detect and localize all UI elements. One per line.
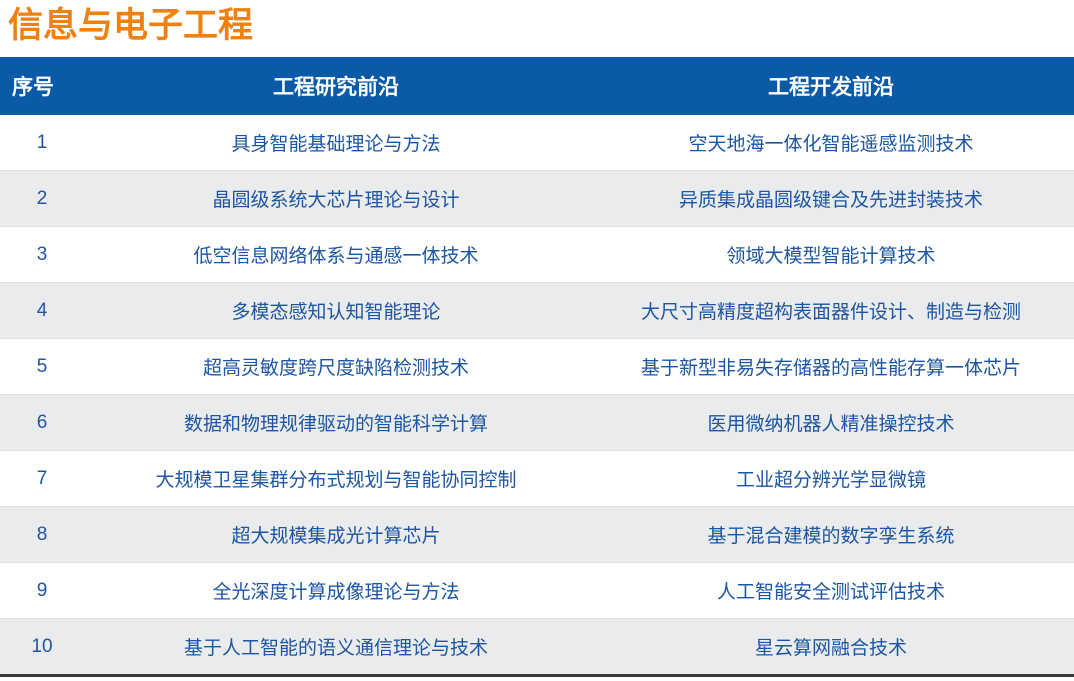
table-row: 6数据和物理规律驱动的智能科学计算医用微纳机器人精准操控技术 <box>0 395 1074 451</box>
table-row: 9全光深度计算成像理论与方法人工智能安全测试评估技术 <box>0 563 1074 619</box>
table-row: 1具身智能基础理论与方法空天地海一体化智能遥感监测技术 <box>0 115 1074 171</box>
cell-research-front: 具身智能基础理论与方法 <box>84 115 588 171</box>
cell-research-front: 超大规模集成光计算芯片 <box>84 507 588 563</box>
table-row: 5超高灵敏度跨尺度缺陷检测技术基于新型非易失存储器的高性能存算一体芯片 <box>0 339 1074 395</box>
page-root: 信息与电子工程 序号 工程研究前沿 工程开发前沿 1具身智能基础理论与方法空天地… <box>0 0 1074 681</box>
cell-development-front: 人工智能安全测试评估技术 <box>588 563 1074 619</box>
cell-index: 3 <box>0 227 84 283</box>
page-title: 信息与电子工程 <box>8 2 253 50</box>
cell-research-front: 大规模卫星集群分布式规划与智能协同控制 <box>84 451 588 507</box>
cell-index: 9 <box>0 563 84 619</box>
cell-index: 4 <box>0 283 84 339</box>
cell-index: 6 <box>0 395 84 451</box>
table-header: 序号 工程研究前沿 工程开发前沿 <box>0 57 1074 115</box>
cell-development-front: 大尺寸高精度超构表面器件设计、制造与检测 <box>588 283 1074 339</box>
table-row: 4多模态感知认知智能理论大尺寸高精度超构表面器件设计、制造与检测 <box>0 283 1074 339</box>
cell-research-front: 全光深度计算成像理论与方法 <box>84 563 588 619</box>
cell-development-front: 医用微纳机器人精准操控技术 <box>588 395 1074 451</box>
cell-research-front: 基于人工智能的语义通信理论与技术 <box>84 619 588 676</box>
cell-index: 7 <box>0 451 84 507</box>
engineering-fronts-table: 序号 工程研究前沿 工程开发前沿 1具身智能基础理论与方法空天地海一体化智能遥感… <box>0 57 1074 677</box>
cell-index: 8 <box>0 507 84 563</box>
cell-development-front: 工业超分辨光学显微镜 <box>588 451 1074 507</box>
cell-research-front: 低空信息网络体系与通感一体技术 <box>84 227 588 283</box>
cell-research-front: 晶圆级系统大芯片理论与设计 <box>84 171 588 227</box>
cell-development-front: 空天地海一体化智能遥感监测技术 <box>588 115 1074 171</box>
cell-development-front: 领域大模型智能计算技术 <box>588 227 1074 283</box>
column-header-index: 序号 <box>0 57 84 115</box>
cell-development-front: 星云算网融合技术 <box>588 619 1074 676</box>
column-header-development-front: 工程开发前沿 <box>588 57 1074 115</box>
cell-index: 5 <box>0 339 84 395</box>
cell-research-front: 数据和物理规律驱动的智能科学计算 <box>84 395 588 451</box>
table-header-row: 序号 工程研究前沿 工程开发前沿 <box>0 57 1074 115</box>
table-row: 7大规模卫星集群分布式规划与智能协同控制工业超分辨光学显微镜 <box>0 451 1074 507</box>
cell-development-front: 基于混合建模的数字孪生系统 <box>588 507 1074 563</box>
table-row: 8超大规模集成光计算芯片基于混合建模的数字孪生系统 <box>0 507 1074 563</box>
cell-development-front: 异质集成晶圆级键合及先进封装技术 <box>588 171 1074 227</box>
cell-index: 10 <box>0 619 84 676</box>
column-header-research-front: 工程研究前沿 <box>84 57 588 115</box>
table-body: 1具身智能基础理论与方法空天地海一体化智能遥感监测技术2晶圆级系统大芯片理论与设… <box>0 115 1074 676</box>
cell-research-front: 超高灵敏度跨尺度缺陷检测技术 <box>84 339 588 395</box>
table-row: 10基于人工智能的语义通信理论与技术星云算网融合技术 <box>0 619 1074 676</box>
table-row: 2晶圆级系统大芯片理论与设计异质集成晶圆级键合及先进封装技术 <box>0 171 1074 227</box>
table-row: 3低空信息网络体系与通感一体技术领域大模型智能计算技术 <box>0 227 1074 283</box>
cell-index: 1 <box>0 115 84 171</box>
cell-development-front: 基于新型非易失存储器的高性能存算一体芯片 <box>588 339 1074 395</box>
cell-research-front: 多模态感知认知智能理论 <box>84 283 588 339</box>
cell-index: 2 <box>0 171 84 227</box>
